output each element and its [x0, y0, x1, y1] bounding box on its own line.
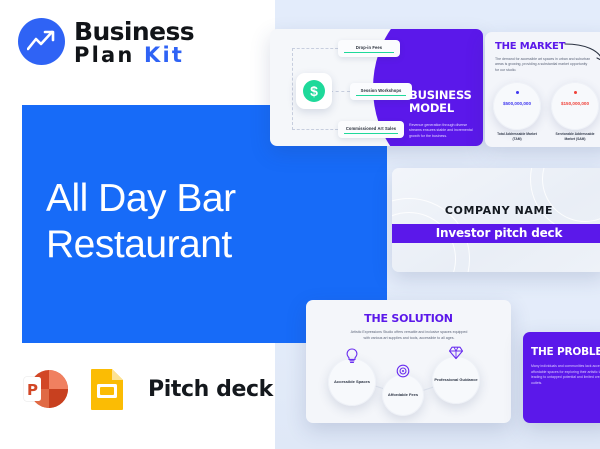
bm-connector-trunk [292, 48, 293, 130]
solution-body: Artistic Expressions Studio offers versa… [350, 330, 468, 342]
market-metric-2-dot [574, 91, 577, 94]
bm-item-3[interactable]: Commissioned Art Sales [338, 121, 404, 138]
market-metric-2-caption: Serviceable Addressable Market (SAM) [551, 132, 599, 142]
page-title: All Day Bar Restaurant [46, 176, 376, 268]
brand-kit-word: Kit [144, 43, 184, 67]
solution-node-2[interactable]: Affordable Fees [382, 374, 424, 416]
solution-node-1[interactable]: Accessible Spaces [328, 358, 376, 406]
company-name: COMPANY NAME [392, 204, 600, 217]
bm-item-2-label: Session Workshops [350, 83, 412, 93]
bm-connector-2 [330, 91, 350, 92]
brand-line-1: Business [74, 19, 194, 44]
solution-node-3-label: Professional Guidance [432, 377, 480, 383]
investor-pitch-label: Investor pitch deck [392, 224, 600, 243]
bm-connector-3 [292, 129, 338, 130]
market-metric-1-value: $500,000,000 [493, 101, 541, 106]
bm-item-3-label: Commissioned Art Sales [338, 121, 404, 131]
problem-title: THE PROBLEM [531, 346, 600, 358]
slide-business-model[interactable]: $ Drop-in Fees Session Workshops Commiss… [270, 29, 483, 146]
slide-the-market[interactable]: THE MARKET The demand for accessible art… [485, 32, 600, 147]
brand-logo: Business Plan Kit [18, 17, 194, 66]
brand-plan-word: Plan [74, 43, 135, 67]
problem-body: Many individuals and communities lack ac… [531, 364, 600, 386]
slide-the-solution[interactable]: THE SOLUTION Artistic Expressions Studio… [306, 300, 511, 423]
market-metric-1-caption: Total Addressable Market (TAM) [493, 132, 541, 142]
market-metric-2-value: $150,000,000 [551, 101, 599, 106]
hero-line-1: All Day Bar [46, 176, 376, 222]
google-slides-icon [84, 366, 130, 412]
bm-item-1-label: Drop-in Fees [338, 40, 400, 50]
market-title: THE MARKET [495, 41, 565, 52]
solution-node-2-label: Affordable Fees [382, 392, 424, 398]
target-circle-icon [396, 364, 410, 383]
pitch-deck-label: Pitch deck [148, 377, 273, 402]
bm-item-1[interactable]: Drop-in Fees [338, 40, 400, 57]
trend-arrow-circle-icon [18, 18, 65, 65]
format-row: P Pitch deck [22, 365, 273, 413]
slide-company-title[interactable]: COMPANY NAME Investor pitch deck [392, 168, 600, 272]
bm-item-2[interactable]: Session Workshops [350, 83, 412, 100]
market-metric-2[interactable]: $150,000,000 Serviceable Addressable Mar… [551, 82, 599, 130]
hero-line-2: Restaurant [46, 222, 376, 268]
svg-text:P: P [27, 381, 38, 399]
solution-node-3[interactable]: Professional Guidance [432, 356, 480, 404]
bm-connector-1 [292, 48, 338, 49]
market-body: The demand for accessible art spaces in … [495, 57, 591, 73]
market-metric-1[interactable]: $500,000,000 Total Addressable Market (T… [493, 82, 541, 130]
business-model-body: Revenue generation through diverse strea… [409, 123, 475, 139]
lightbulb-icon [346, 348, 359, 369]
solution-title: THE SOLUTION [306, 312, 511, 325]
diamond-icon [449, 346, 464, 365]
powerpoint-icon: P [22, 365, 70, 413]
dollar-icon: $ [296, 73, 332, 109]
solution-node-1-label: Accessible Spaces [328, 379, 376, 385]
market-metric-1-dot [516, 91, 519, 94]
brand-line-2: Plan Kit [74, 45, 194, 66]
business-model-title: BUSINESS MODEL [409, 89, 477, 115]
investor-pitch-bar: Investor pitch deck [392, 224, 600, 243]
poster-canvas: Business Plan Kit All Day Bar Restaurant… [0, 0, 600, 449]
slide-the-problem[interactable]: THE PROBLEM Many individuals and communi… [523, 332, 600, 423]
